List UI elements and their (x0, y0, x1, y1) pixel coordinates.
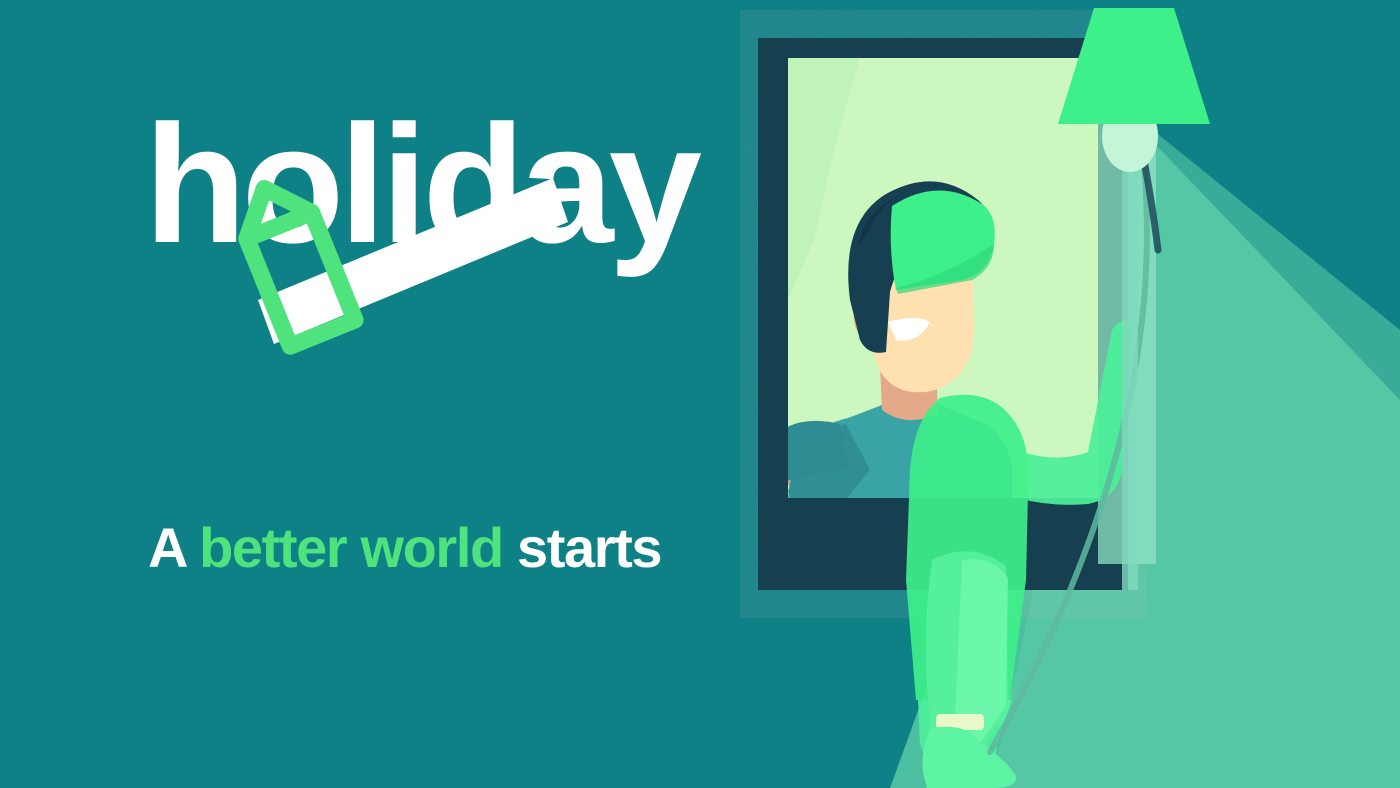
left-content-column: holiday A better world starts with a jou… (148, 100, 848, 788)
lamp-shade (1058, 8, 1210, 124)
brand-banner: holiday A better world starts with a jou… (0, 0, 1400, 788)
tagline-l1-highlight: better world (199, 516, 503, 579)
tagline-l1-post: starts (503, 516, 661, 579)
brand-logo[interactable]: holiday (148, 100, 768, 330)
logo-wordmark: holiday (144, 100, 697, 268)
tagline: A better world starts with a journey. A … (148, 352, 848, 788)
tagline-line-1: A better world starts (148, 509, 848, 587)
lamp-pole (1122, 120, 1138, 590)
tagline-l1-pre: A (148, 516, 199, 579)
